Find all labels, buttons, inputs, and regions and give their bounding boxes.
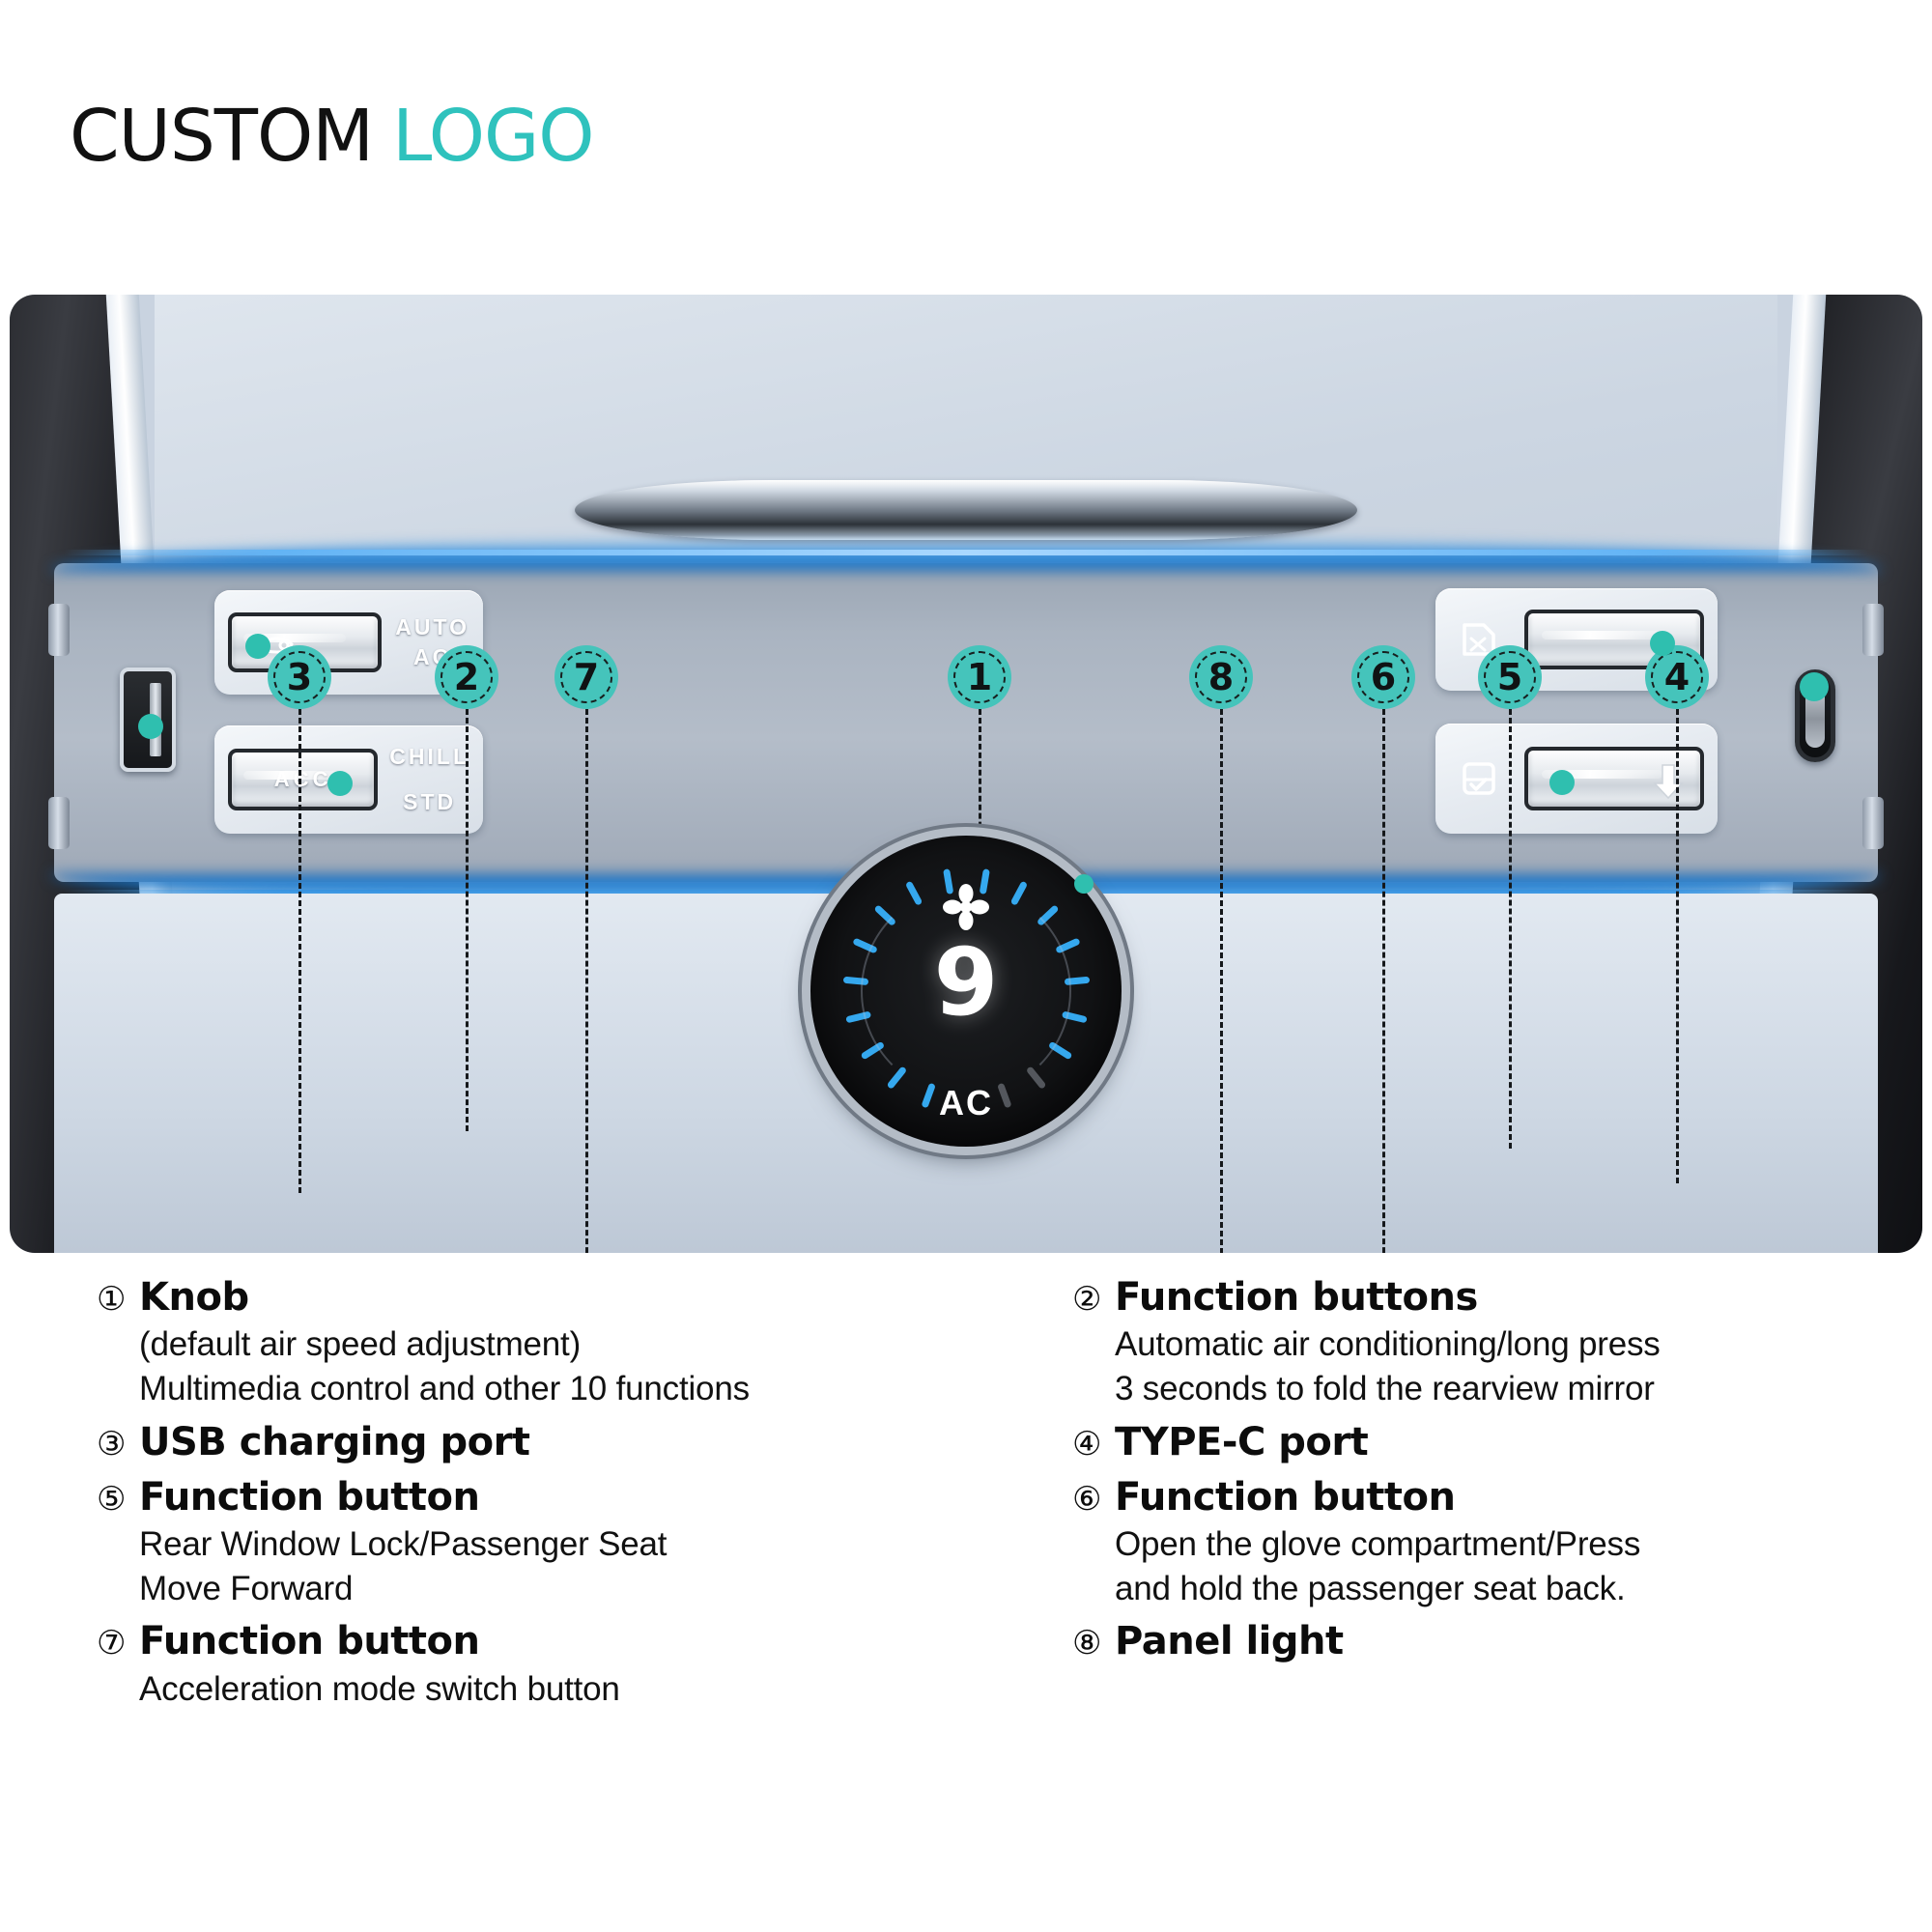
legend-item-title: Panel light (1115, 1617, 1344, 1666)
legend-item: ①Knob(default air speed adjustment)Multi… (97, 1273, 947, 1412)
legend-item-number: ⑦ (97, 1623, 126, 1665)
legend-item: ⑥Function buttonOpen the glove compartme… (1072, 1473, 1922, 1612)
marker-dot-acc (327, 771, 353, 796)
pad-acc-chill-std[interactable]: ACC CHILL STD (214, 725, 483, 834)
legend-item-description: (default air speed adjustment)Multimedia… (139, 1322, 947, 1411)
marker-dot-usb (138, 714, 163, 739)
knob-mode-label: AC (810, 1083, 1122, 1123)
callout-bubble-6[interactable]: 6 (1351, 645, 1415, 709)
pad-label-chill-std: CHILL STD (389, 742, 469, 817)
callout-number: 8 (1208, 659, 1234, 696)
callout-bubble-1[interactable]: 1 (948, 645, 1011, 709)
legend-description-line: and hold the passenger seat back. (1115, 1567, 1922, 1611)
legend-item-number: ⑧ (1072, 1623, 1101, 1665)
control-plate: AUTO AC ACC CHILL STD (54, 563, 1878, 882)
legend-item-number: ④ (1072, 1424, 1101, 1466)
legend-item: ⑦Function buttonAcceleration mode switch… (97, 1617, 947, 1711)
callout-bubble-3[interactable]: 3 (268, 645, 331, 709)
callout-bubble-8[interactable]: 8 (1189, 645, 1253, 709)
legend-item-description: Open the glove compartment/Pressand hold… (1115, 1522, 1922, 1611)
callout-number: 5 (1497, 659, 1522, 696)
plate-clip-right-bottom (1862, 797, 1884, 849)
callout-number: 6 (1371, 659, 1396, 696)
legend-item-title: Knob (139, 1273, 249, 1322)
callout-leader-3 (298, 709, 301, 1193)
legend-item-heading: ⑦Function button (97, 1617, 947, 1666)
callout-leader-2 (466, 709, 469, 1131)
legend-item-number: ① (97, 1279, 126, 1321)
callout-number: 1 (967, 659, 992, 696)
legend-item: ②Function buttonsAutomatic air condition… (1072, 1273, 1922, 1412)
seat-back-icon (1459, 758, 1499, 799)
callout-bubble-7[interactable]: 7 (554, 645, 618, 709)
marker-dot-seat-back (1549, 770, 1575, 795)
callout-number: 3 (287, 659, 312, 696)
rocker-sheen (1542, 631, 1662, 639)
plate-clip-right-top (1862, 604, 1884, 656)
marker-dot-panel-light (1074, 874, 1094, 894)
legend-item-title: TYPE-C port (1115, 1418, 1368, 1467)
legend: ①Knob(default air speed adjustment)Multi… (0, 1273, 1932, 1930)
callout-leader-4 (1676, 709, 1679, 1183)
legend-item-heading: ④TYPE-C port (1072, 1418, 1922, 1467)
legend-item-heading: ⑥Function button (1072, 1473, 1922, 1522)
legend-item: ⑧Panel light (1072, 1617, 1922, 1666)
panel-light-top (64, 550, 1868, 555)
legend-item-heading: ⑧Panel light (1072, 1617, 1922, 1666)
storage-lid-handle (575, 480, 1357, 540)
marker-dot-auto-ac (245, 634, 270, 659)
callout-bubble-5[interactable]: 5 (1478, 645, 1542, 709)
legend-column-right: ②Function buttonsAutomatic air condition… (1072, 1273, 1922, 1673)
legend-description-line: (default air speed adjustment) (139, 1322, 947, 1367)
label-auto: AUTO (395, 612, 469, 642)
callout-number: 4 (1664, 659, 1690, 696)
marker-dot-typec (1800, 672, 1829, 701)
center-console-photo: AUTO AC ACC CHILL STD (10, 295, 1922, 1253)
legend-item-title: Function button (139, 1617, 480, 1666)
legend-item-heading: ②Function buttons (1072, 1273, 1922, 1322)
legend-item-title: USB charging port (139, 1418, 529, 1467)
callout-number: 7 (574, 659, 599, 696)
label-std: STD (389, 787, 469, 817)
legend-description-line: 3 seconds to fold the rearview mirror (1115, 1367, 1922, 1411)
marker-dot-glove-box (1650, 631, 1675, 656)
legend-item-title: Function button (139, 1473, 480, 1522)
callout-number: 2 (454, 659, 479, 696)
legend-item-number: ③ (97, 1424, 126, 1466)
usb-charging-port[interactable] (120, 668, 176, 772)
legend-item-heading: ①Knob (97, 1273, 947, 1322)
brand-logo: CUSTOM LOGO (70, 92, 594, 181)
legend-description-line: Move Forward (139, 1567, 947, 1611)
legend-item: ④TYPE-C port (1072, 1418, 1922, 1467)
legend-description-line: Acceleration mode switch button (139, 1667, 947, 1712)
legend-item-description: Rear Window Lock/Passenger SeatMove Forw… (139, 1522, 947, 1611)
plate-clip-left-bottom (48, 797, 70, 849)
callout-leader-7 (585, 709, 588, 1253)
callout-leader-6 (1382, 709, 1385, 1253)
type-c-port[interactable] (1795, 669, 1835, 762)
legend-description-line: Open the glove compartment/Press (1115, 1522, 1922, 1567)
callout-leader-8 (1220, 709, 1223, 1253)
legend-item-description: Acceleration mode switch button (139, 1667, 947, 1712)
legend-column-left: ①Knob(default air speed adjustment)Multi… (97, 1273, 947, 1718)
logo-word-custom: CUSTOM (70, 100, 373, 172)
legend-item-number: ⑥ (1072, 1479, 1101, 1521)
legend-item-heading: ③USB charging port (97, 1418, 947, 1467)
legend-item: ③USB charging port (97, 1418, 947, 1467)
legend-item-number: ⑤ (97, 1479, 126, 1521)
label-chill: CHILL (389, 742, 469, 772)
down-arrow-icon (1652, 762, 1685, 801)
legend-description-line: Automatic air conditioning/long press (1115, 1322, 1922, 1367)
callout-bubble-4[interactable]: 4 (1645, 645, 1709, 709)
legend-item: ⑤Function buttonRear Window Lock/Passeng… (97, 1473, 947, 1612)
callout-bubble-2[interactable]: 2 (435, 645, 498, 709)
legend-item-description: Automatic air conditioning/long press3 s… (1115, 1322, 1922, 1411)
legend-item-title: Function buttons (1115, 1273, 1478, 1322)
legend-item-title: Function button (1115, 1473, 1456, 1522)
plate-clip-left-top (48, 604, 70, 656)
rocker-acc[interactable]: ACC (228, 749, 378, 810)
legend-description-line: Multimedia control and other 10 function… (139, 1367, 947, 1411)
callout-leader-5 (1509, 709, 1512, 1149)
legend-item-heading: ⑤Function button (97, 1473, 947, 1522)
legend-item-number: ② (1072, 1279, 1101, 1321)
knob-value: 9 (810, 936, 1122, 1029)
logo-word-logo: LOGO (392, 100, 593, 172)
legend-description-line: Rear Window Lock/Passenger Seat (139, 1522, 947, 1567)
